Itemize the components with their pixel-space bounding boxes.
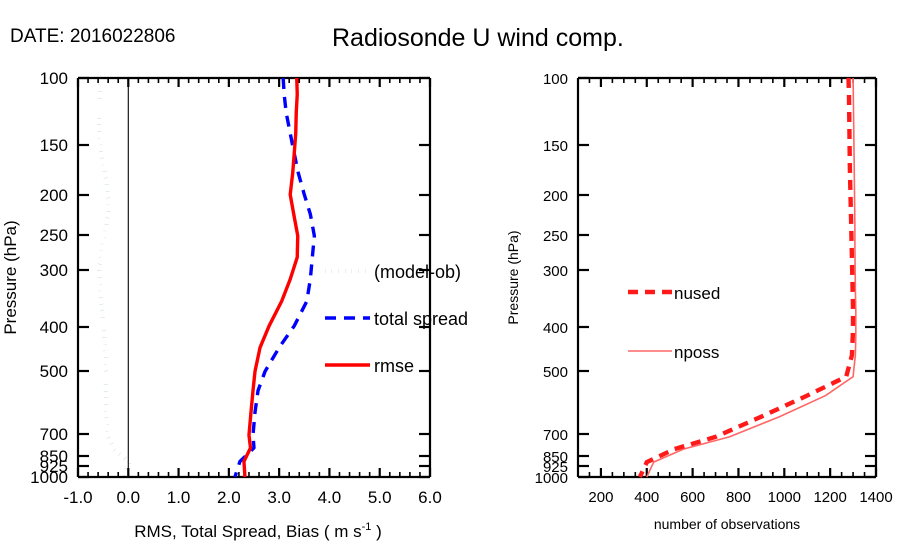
left-ytick-label: 150	[40, 136, 68, 155]
date-label: DATE: 2016022806	[10, 26, 176, 47]
left-xtick-label: 6.0	[418, 488, 442, 507]
right-xtick-label: 600	[680, 489, 705, 506]
right-xtick-label: 200	[588, 489, 613, 506]
radiosonde-figure: -1.00.01.02.03.04.05.06.0100150200250300…	[0, 0, 900, 560]
left-ytick-label: 100	[40, 69, 68, 88]
header: DATE: 2016022806Radiosonde U wind comp.	[10, 24, 624, 52]
right-xtick-label: 800	[726, 489, 751, 506]
left-xtick-label: 4.0	[318, 488, 342, 507]
left-panel: -1.00.01.02.03.04.05.06.0100150200250300…	[1, 69, 468, 541]
left-ytick-label: 400	[40, 318, 68, 337]
left-ytick-label: 200	[40, 186, 68, 205]
series-total-spread	[235, 78, 314, 477]
left-xtick-label: 3.0	[267, 488, 291, 507]
right-ytick-label: 500	[543, 364, 568, 381]
legend-rmse-label: rmse	[374, 356, 414, 376]
right-ytick-label: 150	[543, 138, 568, 155]
right-yaxis-title: Pressure (hPa)	[505, 230, 521, 324]
right-ytick-label: 200	[543, 188, 568, 205]
right-ytick-label: 100	[543, 71, 568, 88]
series-bias	[99, 78, 129, 477]
right-ytick-label: 1000	[535, 470, 568, 487]
right-xaxis-title: number of observations	[654, 516, 800, 532]
left-yaxis-title: Pressure (hPa)	[1, 220, 20, 334]
right-ytick-label: 700	[543, 427, 568, 444]
right-xtick-label: 1400	[859, 489, 892, 506]
left-legend: (model-ob)total spreadrmse	[325, 262, 468, 376]
page-title: Radiosonde U wind comp.	[332, 24, 624, 52]
right-xtick-label: 1200	[813, 489, 846, 506]
left-ytick-label: 250	[40, 226, 68, 245]
series-nposs	[647, 78, 856, 477]
right-xtick-label: 400	[634, 489, 659, 506]
legend-nposs-label: nposs	[674, 343, 719, 362]
left-ytick-label: 700	[40, 425, 68, 444]
right-legend: nusednposs	[628, 284, 720, 362]
left-xtick-label: 5.0	[368, 488, 392, 507]
left-xtick-label: 1.0	[167, 488, 191, 507]
left-ytick-label: 300	[40, 261, 68, 280]
left-ytick-label: 1000	[30, 468, 68, 487]
left-xtick-label: -1.0	[63, 488, 92, 507]
right-ytick-label: 300	[543, 263, 568, 280]
chart-root: -1.00.01.02.03.04.05.06.0100150200250300…	[0, 0, 900, 560]
series-nused	[640, 78, 853, 477]
right-xtick-label: 1000	[768, 489, 801, 506]
left-xaxis-title: RMS, Total Spread, Bias ( m s-1 )	[134, 521, 382, 541]
left-ytick-label: 500	[40, 362, 68, 381]
right-ytick-label: 250	[543, 228, 568, 245]
legend-total-spread-label: total spread	[374, 309, 468, 329]
left-xtick-label: 2.0	[217, 488, 241, 507]
legend-bias-label: (model-ob)	[374, 262, 461, 282]
right-ytick-label: 400	[543, 320, 568, 337]
left-xtick-label: 0.0	[116, 488, 140, 507]
legend-nused-label: nused	[674, 284, 720, 303]
